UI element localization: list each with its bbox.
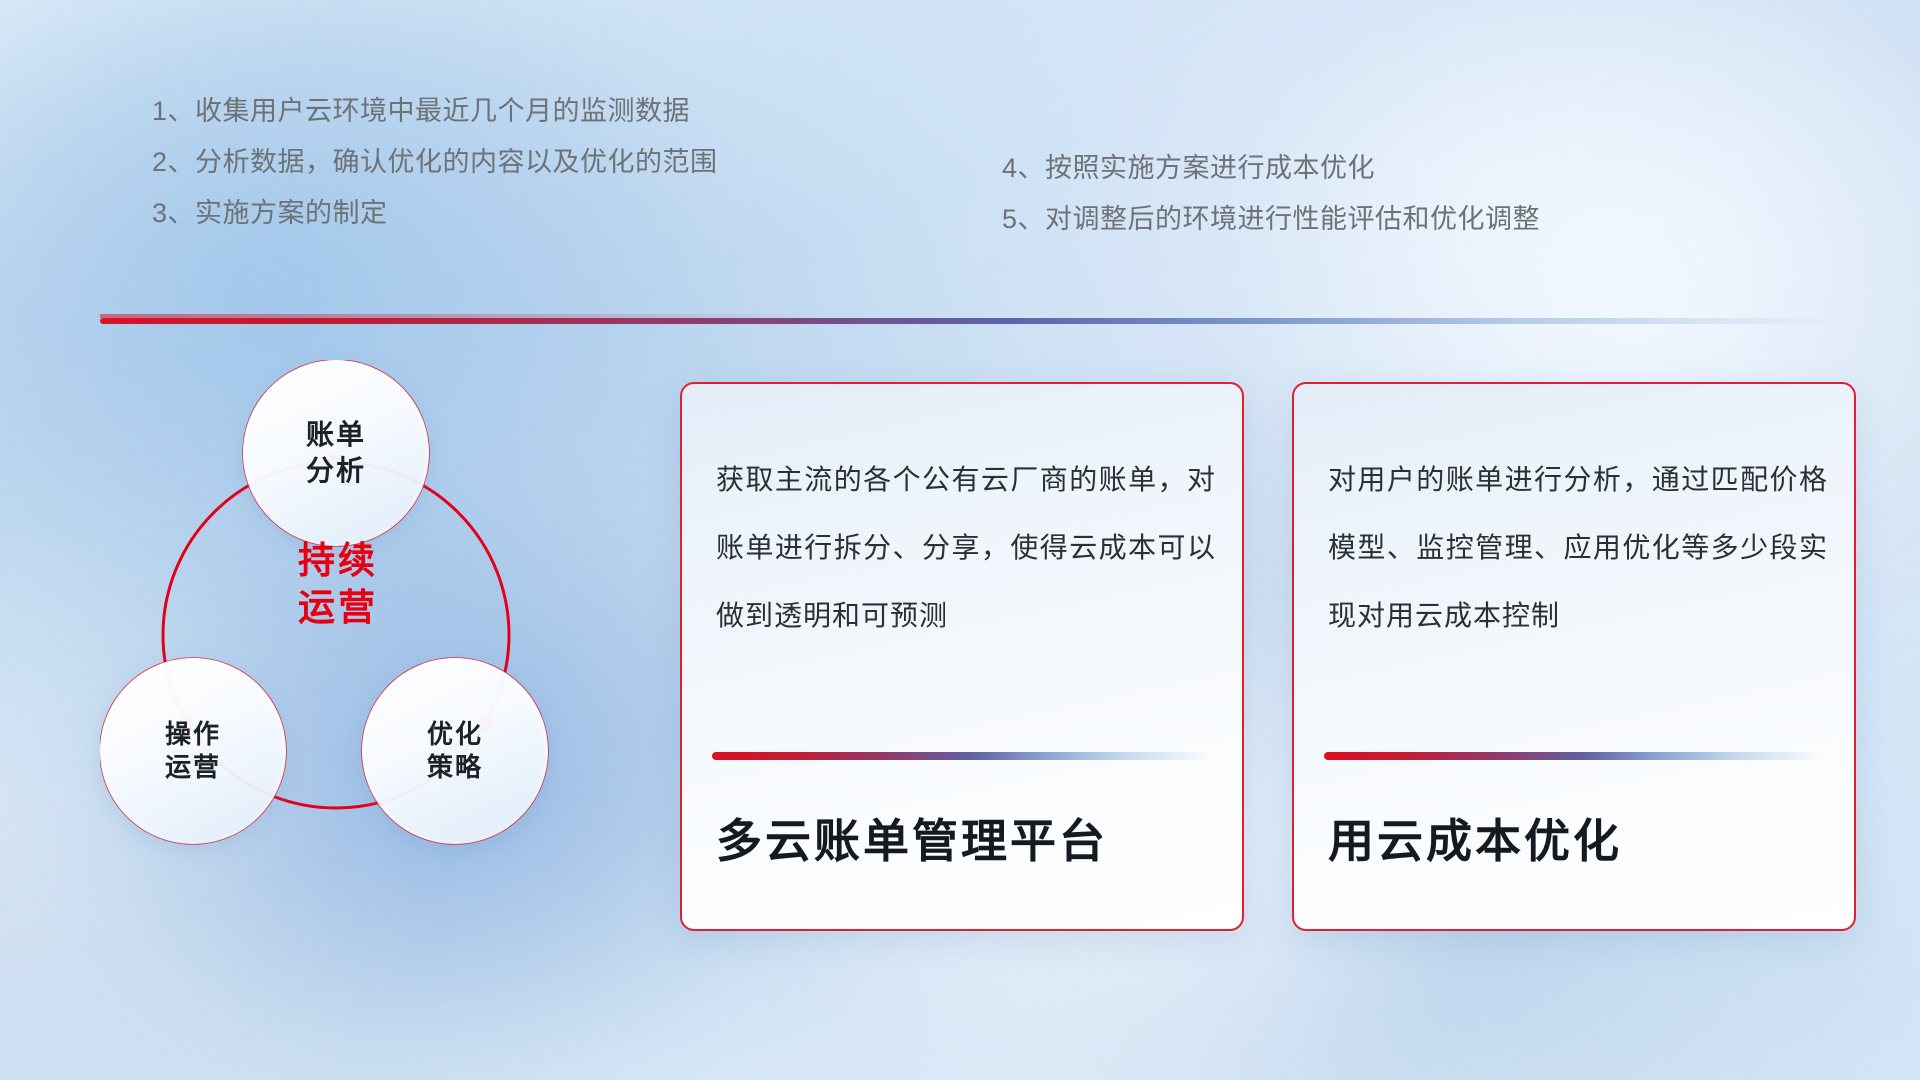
venn-diagram: 账单 分析 操作 运营 优化 策略 持续 运营 (100, 360, 630, 940)
card-1-title: 多云账单管理平台 (716, 814, 1108, 869)
card-2-accent-rule (1324, 752, 1822, 760)
venn-bubble-optimization-strategy-line2: 策略 (427, 751, 483, 784)
venn-bubble-optimization-strategy[interactable]: 优化 策略 (362, 658, 548, 844)
step-item-1: 1、收集用户云环境中最近几个月的监测数据 (152, 98, 912, 125)
venn-bubble-bill-analysis-line1: 账单 (306, 417, 366, 453)
card-1-body-text: 获取主流的各个公有云厂商的账单，对账单进行拆分、分享，使得云成本可以做到透明和可… (716, 446, 1216, 649)
venn-center-label: 持续 运营 (218, 538, 458, 631)
venn-center-label-line1: 持续 (218, 538, 458, 585)
steps-left-column: 1、收集用户云环境中最近几个月的监测数据 2、分析数据，确认优化的内容以及优化的… (152, 98, 912, 251)
card-2-body-text: 对用户的账单进行分析，通过匹配价格模型、监控管理、应用优化等多少段实现对用云成本… (1328, 446, 1828, 649)
section-divider (100, 318, 1836, 324)
venn-bubble-operations-line1: 操作 (165, 718, 221, 751)
step-item-3: 3、实施方案的制定 (152, 200, 912, 227)
venn-bubble-operations-line2: 运营 (165, 751, 221, 784)
card-cloud-cost-optimization[interactable]: 对用户的账单进行分析，通过匹配价格模型、监控管理、应用优化等多少段实现对用云成本… (1292, 382, 1856, 931)
venn-bubble-bill-analysis[interactable]: 账单 分析 (243, 360, 429, 546)
step-item-5: 5、对调整后的环境进行性能评估和优化调整 (1002, 206, 1762, 233)
slide-canvas: 1、收集用户云环境中最近几个月的监测数据 2、分析数据，确认优化的内容以及优化的… (0, 0, 1920, 1080)
card-1-accent-rule (712, 752, 1210, 760)
venn-bubble-operations[interactable]: 操作 运营 (100, 658, 286, 844)
venn-center-label-line2: 运营 (218, 585, 458, 632)
steps-right-column: 4、按照实施方案进行成本优化 5、对调整后的环境进行性能评估和优化调整 (1002, 155, 1762, 257)
card-multi-cloud-bill-platform[interactable]: 获取主流的各个公有云厂商的账单，对账单进行拆分、分享，使得云成本可以做到透明和可… (680, 382, 1244, 931)
step-item-4: 4、按照实施方案进行成本优化 (1002, 155, 1762, 182)
venn-bubble-bill-analysis-line2: 分析 (306, 453, 366, 489)
step-item-2: 2、分析数据，确认优化的内容以及优化的范围 (152, 149, 912, 176)
venn-bubble-optimization-strategy-line1: 优化 (427, 718, 483, 751)
card-2-title: 用云成本优化 (1328, 814, 1622, 869)
